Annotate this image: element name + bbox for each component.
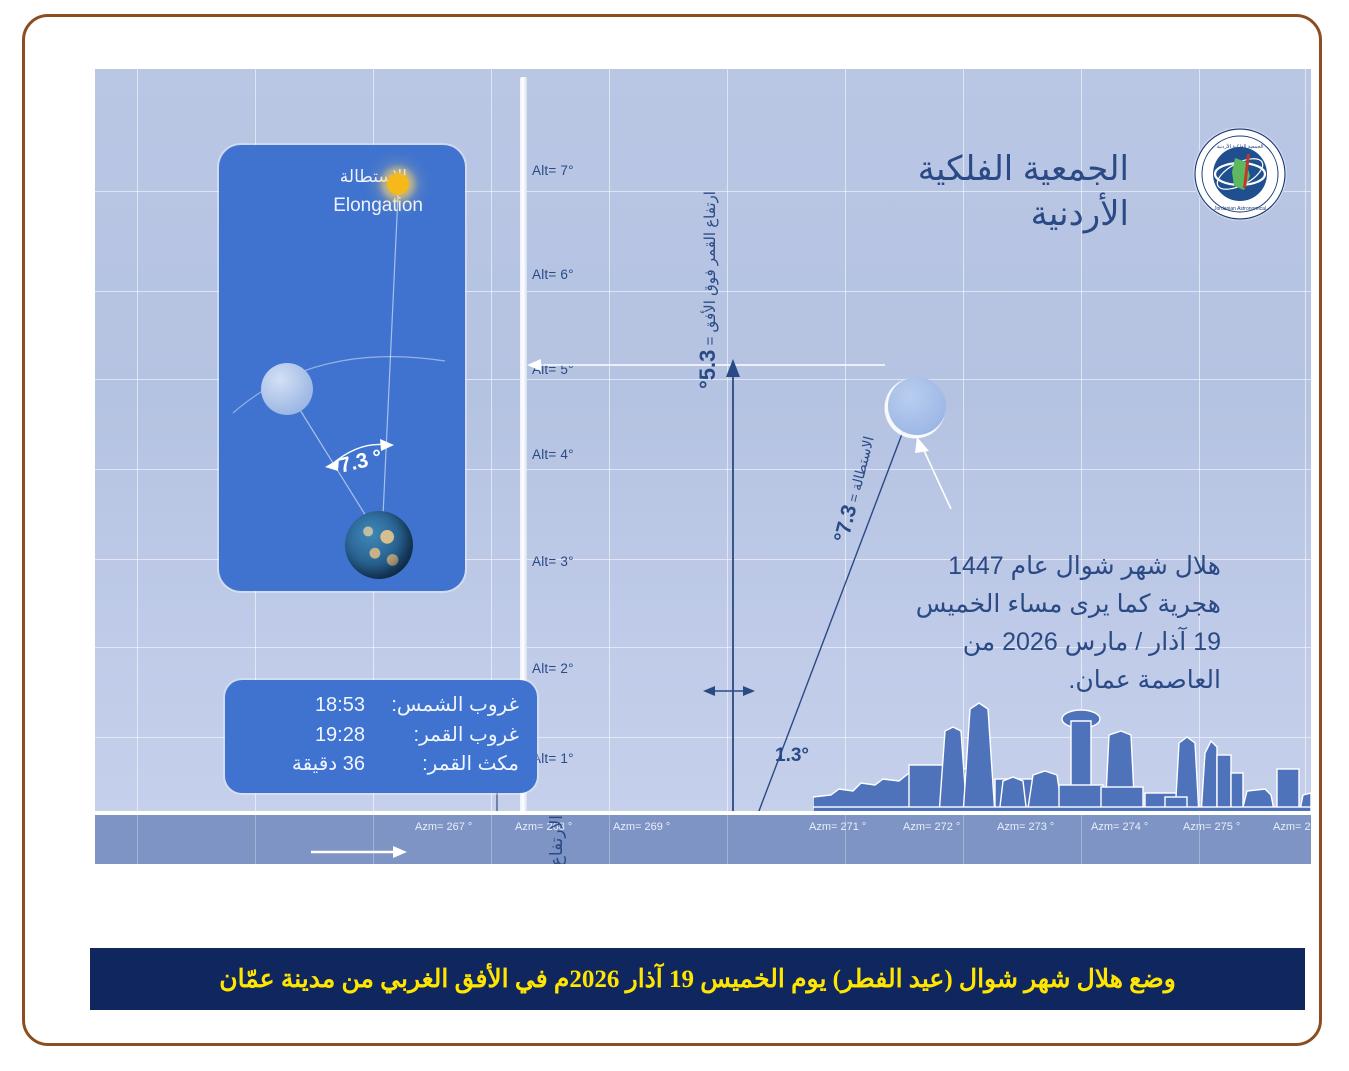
poster-frame: Alt= 7° Alt= 6° Alt= 5° Alt= 4° Alt= 3° … — [22, 14, 1322, 1046]
svg-text:Jordanian Astronomical: Jordanian Astronomical — [1214, 206, 1266, 212]
poster-root: Alt= 7° Alt= 6° Alt= 5° Alt= 4° Alt= 3° … — [0, 0, 1349, 1071]
elongation-measurement: الاستطالة = 7.3° — [830, 433, 880, 544]
moon-altitude-measurement: ارتفاع القمر فوق الأفق = 5.3° — [695, 191, 721, 389]
azimuth-tick — [491, 815, 492, 864]
grid-line-vertical — [727, 69, 728, 864]
elongation-value: 7.3° — [830, 503, 861, 545]
azimuth-tick — [1081, 815, 1082, 864]
alt-tick-4: Alt= 4° — [532, 447, 574, 462]
info-row-sunset: غروب الشمس: 18:53 — [243, 691, 519, 721]
azimuth-tick — [963, 815, 964, 864]
moon-altitude-text: ارتفاع القمر فوق الأفق = — [702, 191, 719, 350]
azimuth-band: Azm= 267 ° Azm= 268 ° Azm= 269 ° Azm= 27… — [95, 815, 1311, 864]
sun-icon — [387, 173, 409, 195]
azimuth-tick — [727, 815, 728, 864]
elongation-angle-value: 7.3 ° — [337, 445, 385, 478]
azimuth-difference-value: 1.3° — [775, 745, 809, 767]
azimuth-tick-274: Azm= 274 ° — [1091, 821, 1148, 835]
azimuth-tick — [255, 815, 256, 864]
svg-text:الجمعية الفلكية الأردنية: الجمعية الفلكية الأردنية — [1217, 142, 1264, 150]
moon-disc-marker — [888, 377, 946, 435]
azimuth-tick — [609, 815, 610, 864]
azimuth-tick-271: Azm= 271 ° — [809, 821, 866, 835]
alt-tick-2: Alt= 2° — [532, 661, 574, 676]
alt-tick-1: Alt= 1° — [532, 751, 574, 766]
description-text: هلال شهر شوال عام 1447 هجرية كما يرى مسا… — [891, 547, 1221, 699]
azimuth-tick — [137, 815, 138, 864]
alt-tick-7: Alt= 7° — [532, 163, 574, 178]
sky-chart: Alt= 7° Alt= 6° Alt= 5° Alt= 4° Alt= 3° … — [95, 69, 1311, 864]
elongation-text: الاستطالة = — [844, 435, 877, 508]
moonlag-label: مكث القمر: — [391, 750, 519, 780]
alt-tick-3: Alt= 3° — [532, 554, 574, 569]
alt-tick-6: Alt= 6° — [532, 267, 574, 282]
azimuth-tick-272: Azm= 272 ° — [903, 821, 960, 835]
sunset-value: 18:53 — [315, 691, 365, 721]
org-title-line2: الأردنية — [829, 192, 1129, 237]
moon-icon — [261, 363, 313, 415]
azimuth-tick-276: Azm= 276 ° — [1273, 821, 1311, 835]
grid-line-vertical — [137, 69, 138, 864]
moonset-value: 19:28 — [315, 721, 365, 751]
azimuth-tick-275: Azm= 275 ° — [1183, 821, 1240, 835]
moonlag-value: 36 دقيقة — [292, 750, 365, 780]
sunset-label: غروب الشمس: — [391, 691, 519, 721]
info-row-moonlag: مكث القمر: 36 دقيقة — [243, 750, 519, 780]
azimuth-tick-269: Azm= 269 ° — [613, 821, 670, 835]
moonset-label: غروب القمر: — [391, 721, 519, 751]
altitude-axis-label: الارتفاع — [547, 815, 567, 864]
azimuth-tick-273: Azm= 273 ° — [997, 821, 1054, 835]
caption-banner: وضع هلال شهر شوال (عيد الفطر) يوم الخميس… — [90, 948, 1305, 1010]
elongation-title-en: Elongation — [333, 195, 423, 217]
earth-globe-icon — [345, 511, 413, 579]
moon-altitude-value: 5.3° — [695, 350, 720, 389]
azimuth-direction-arrow — [311, 845, 411, 859]
elongation-panel: الاستطالة Elongation 7.3 ° — [219, 145, 465, 591]
times-info-card: غروب الشمس: 18:53 غروب القمر: 19:28 مكث … — [225, 680, 537, 793]
alt-tick-5: Alt= 5° — [532, 362, 574, 377]
org-title-line1: الجمعية الفلكية — [829, 147, 1129, 192]
organization-title: الجمعية الفلكية الأردنية — [829, 147, 1129, 237]
grid-line-vertical — [609, 69, 610, 864]
info-row-moonset: غروب القمر: 19:28 — [243, 721, 519, 751]
jas-logo-icon: الجمعية الفلكية الأردنية Jordanian Astro… — [1193, 127, 1287, 221]
azimuth-tick-267: Azm= 267 ° — [415, 821, 472, 835]
